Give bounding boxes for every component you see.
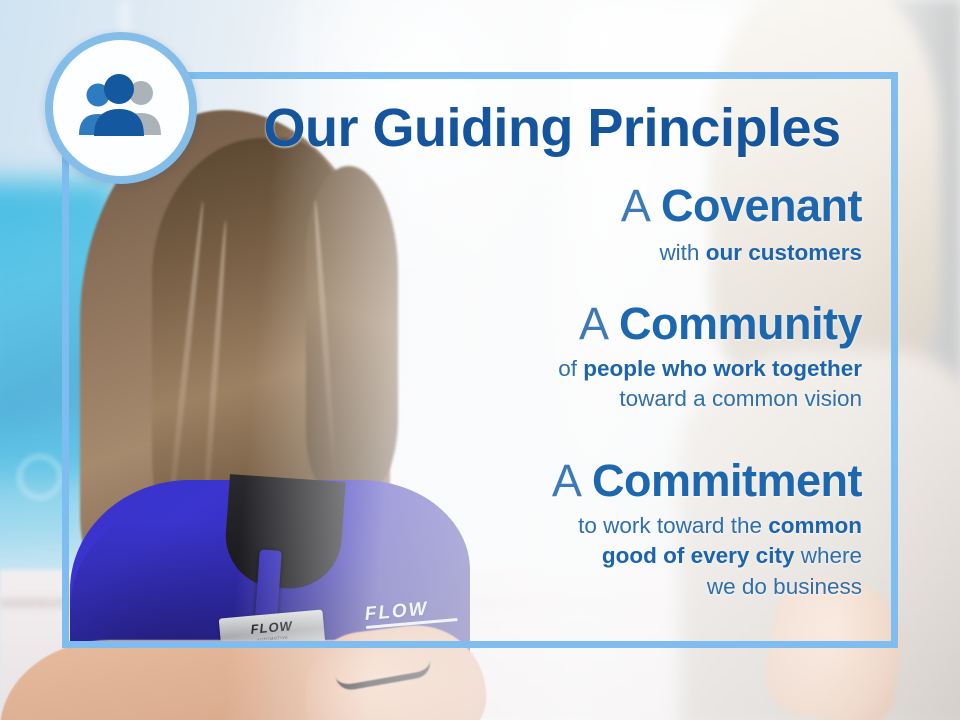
principle-word: Covenant — [661, 180, 862, 231]
principle-subtext-line: with our customers — [62, 238, 862, 269]
principle-subtext-line: we do business — [62, 572, 862, 603]
emphasis-text: our customers — [706, 240, 862, 265]
principle-block-community: A Community of people who work togethert… — [62, 300, 888, 415]
principle-word: Community — [619, 298, 862, 349]
emphasis-text: good of every city — [602, 543, 795, 568]
principle-heading: A Covenant — [62, 182, 862, 230]
emphasis-text: common — [768, 513, 862, 538]
principle-subtext: with our customers — [62, 238, 862, 269]
page-title: Our Guiding Principles — [222, 97, 882, 159]
principle-article: A — [579, 298, 607, 349]
emphasis-text: people who work together — [583, 356, 862, 381]
principle-subtext-line: good of every city where — [62, 541, 862, 572]
principle-block-covenant: A Covenant with our customers — [62, 182, 888, 268]
principle-subtext: of people who work togethertoward a comm… — [62, 354, 862, 415]
principle-heading: A Community — [62, 300, 862, 348]
plain-text: we do business — [707, 574, 862, 599]
principle-heading: A Commitment — [62, 457, 862, 505]
principle-article: A — [552, 455, 580, 506]
principle-word: Commitment — [592, 455, 862, 506]
principle-article: A — [621, 180, 649, 231]
text-content: Our Guiding Principles A Covenant with o… — [62, 72, 898, 648]
principle-subtext-line: of people who work together — [62, 354, 862, 385]
principle-block-commitment: A Commitment to work toward the commongo… — [62, 457, 888, 602]
principle-subtext: to work toward the commongood of every c… — [62, 511, 862, 603]
plain-text: where — [794, 543, 862, 568]
principle-subtext-line: toward a common vision — [62, 384, 862, 415]
plain-text: toward a common vision — [619, 386, 862, 411]
plain-text: to work toward the — [578, 513, 768, 538]
plain-text: with — [659, 240, 705, 265]
plain-text: of — [558, 356, 583, 381]
principle-subtext-line: to work toward the common — [62, 511, 862, 542]
poster-canvas: FLOW AUTOMOTIVE FLOW — [0, 0, 960, 720]
